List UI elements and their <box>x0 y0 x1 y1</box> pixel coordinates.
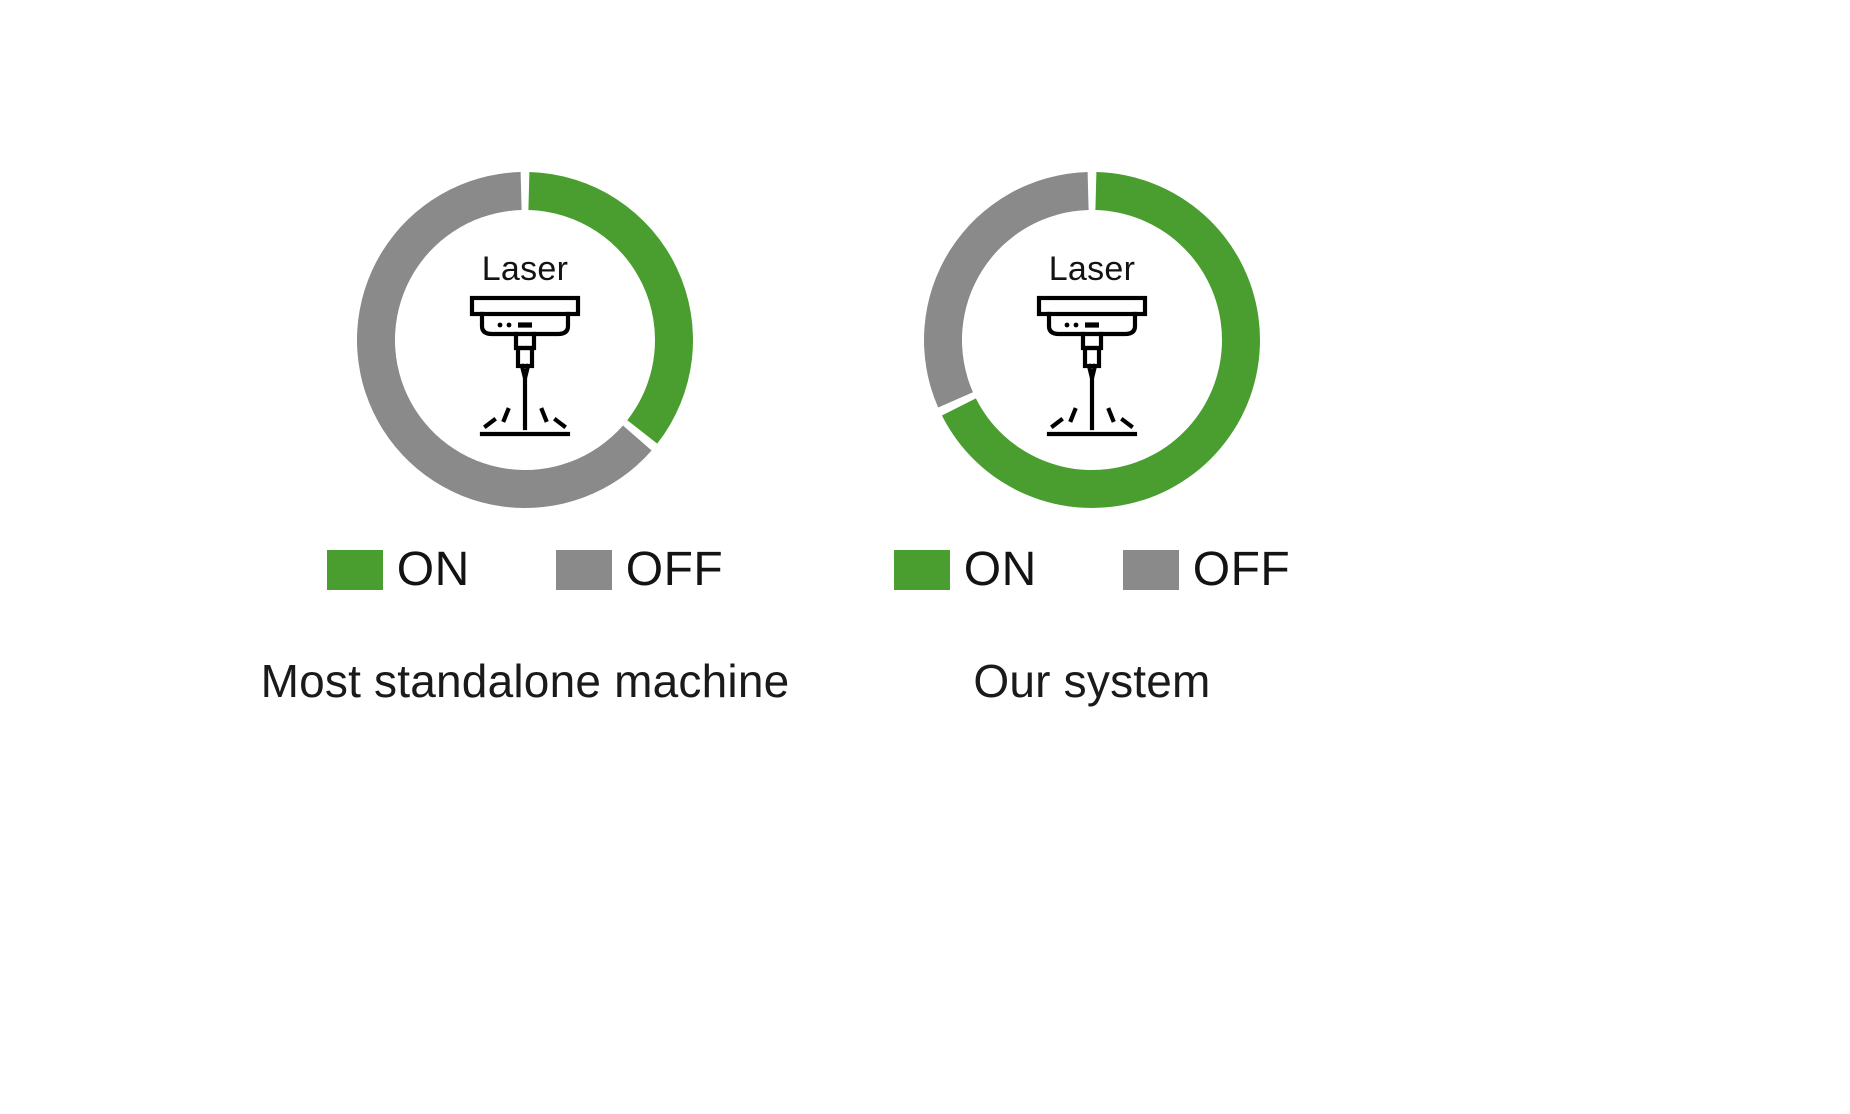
legend-item-off: OFF <box>556 546 723 594</box>
donut-svg-standalone <box>345 160 705 520</box>
legend-standalone: ON OFF <box>327 546 723 594</box>
chart-panel-standalone: Laser <box>215 160 835 704</box>
donut-chart-standalone: Laser <box>345 160 705 520</box>
legend-item-on: ON <box>327 546 470 594</box>
donut-svg-our-system <box>912 160 1272 520</box>
chart-caption-standalone: Most standalone machine <box>261 658 790 704</box>
legend-swatch-on-icon <box>327 550 383 590</box>
legend-swatch-on-icon <box>894 550 950 590</box>
panel-container: Laser <box>0 0 1850 1114</box>
legend-label-on: ON <box>397 546 470 594</box>
legend-item-off: OFF <box>1123 546 1290 594</box>
infographic-canvas: Laser <box>0 0 1850 1114</box>
legend-swatch-off-icon <box>556 550 612 590</box>
legend-item-on: ON <box>894 546 1037 594</box>
legend-label-on: ON <box>964 546 1037 594</box>
donut-segment-off <box>924 172 1089 407</box>
legend-label-off: OFF <box>1193 546 1290 594</box>
legend-swatch-off-icon <box>1123 550 1179 590</box>
donut-chart-our-system: Laser <box>912 160 1272 520</box>
chart-caption-our-system: Our system <box>973 658 1210 704</box>
legend-our-system: ON OFF <box>894 546 1290 594</box>
chart-panel-our-system: Laser <box>782 160 1402 704</box>
donut-segment-on <box>528 172 693 444</box>
legend-label-off: OFF <box>626 546 723 594</box>
